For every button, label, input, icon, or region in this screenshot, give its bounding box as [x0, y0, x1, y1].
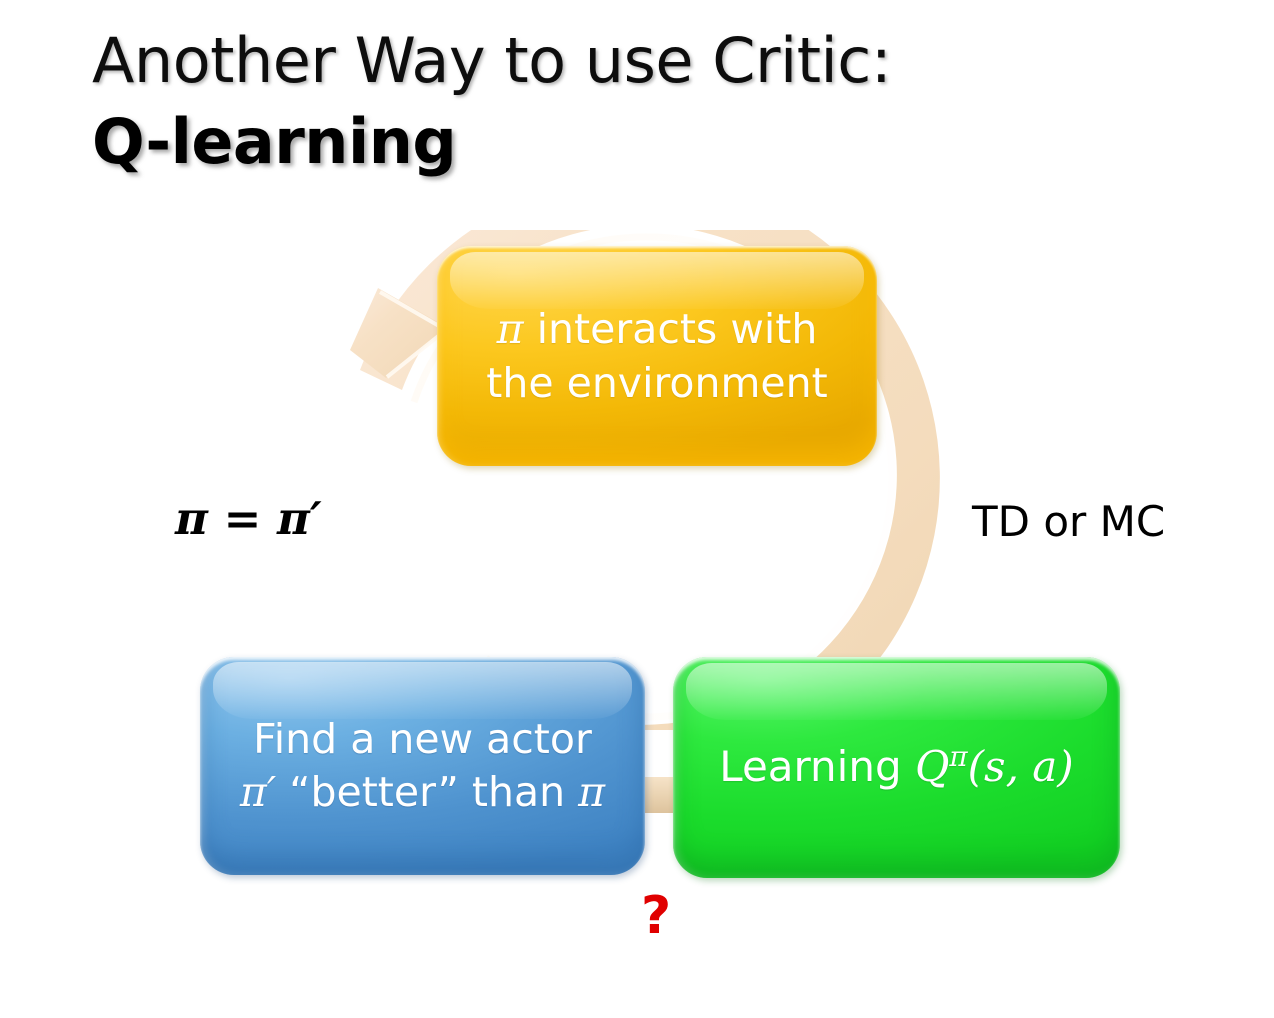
learning-prefix-text: Learning: [719, 742, 915, 791]
node-policy-interaction-label: π interacts with the environment: [437, 302, 877, 410]
edge-label-td-or-mc: TD or MC: [972, 497, 1165, 546]
than-word: than: [459, 768, 578, 816]
question-mark-annotation: ?: [641, 890, 671, 942]
policy-interaction-text-2: the environment: [486, 359, 827, 407]
better-quoted-word: “better”: [289, 768, 459, 816]
find-new-actor-text-1: Find a new actor: [253, 715, 592, 763]
q-symbol: Q: [915, 742, 949, 791]
node-find-new-actor-label: Find a new actor π′ “better” than π: [200, 713, 645, 820]
q-arguments: (s, a): [968, 742, 1074, 791]
slide-canvas: Another Way to use Critic: Q-learning: [0, 0, 1274, 1018]
pi-prime-symbol: π′: [240, 768, 276, 816]
pi-superscript: π: [949, 740, 967, 773]
policy-interaction-text-1: interacts with: [524, 305, 818, 353]
node-find-new-actor[interactable]: Find a new actor π′ “better” than π: [200, 657, 645, 875]
edge-label-pi-equals-pi-prime: π = π′: [175, 492, 322, 545]
title-line-2: Q-learning: [92, 109, 1092, 174]
node-learning-q[interactable]: Learning Qπ(s, a): [673, 657, 1120, 878]
title-line-1: Another Way to use Critic:: [92, 28, 1092, 93]
node-policy-interaction[interactable]: π interacts with the environment: [437, 246, 877, 466]
pi-symbol: π: [497, 305, 524, 353]
pi-symbol: π: [578, 768, 605, 816]
node-learning-q-label: Learning Qπ(s, a): [673, 741, 1120, 794]
page-title: Another Way to use Critic: Q-learning: [92, 28, 1092, 174]
